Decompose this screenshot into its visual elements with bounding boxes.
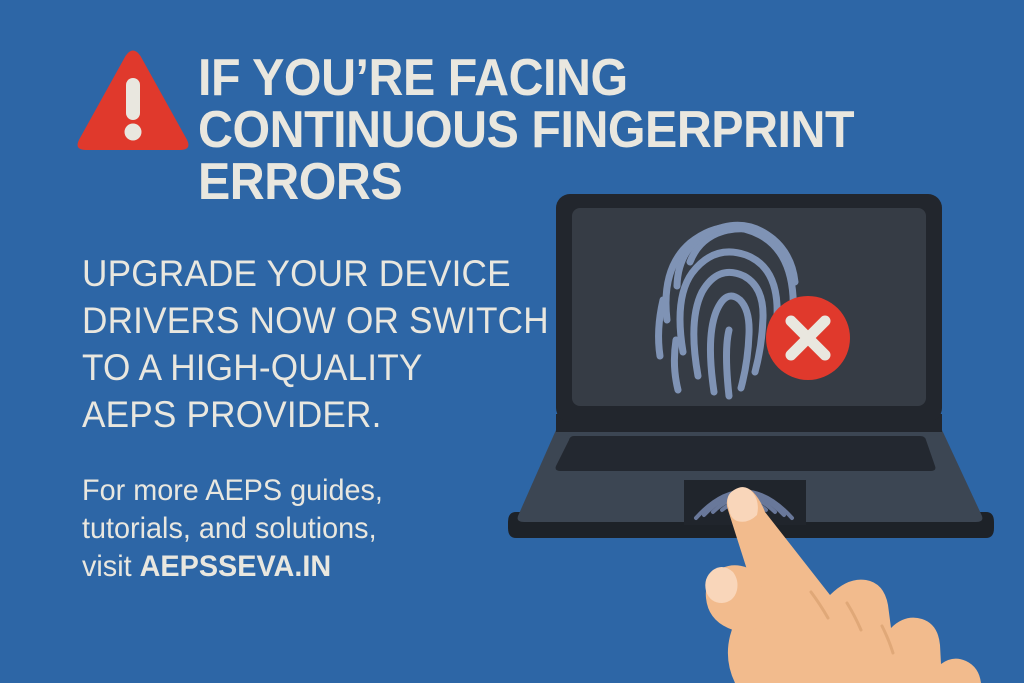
laptop-base-shadow (508, 512, 994, 538)
laptop-hinge (556, 414, 942, 432)
poster-canvas: IF YOU’RE FACING CONTINUOUS FINGERPRINT … (0, 0, 1024, 683)
pointing-hand (705, 487, 981, 683)
subhead-line-1: UPGRADE YOUR DEVICE (82, 250, 529, 297)
headline-line-3: ERRORS (198, 156, 505, 208)
fingerprint-sensor-pad (684, 480, 806, 525)
laptop-screen (572, 208, 926, 406)
warning-triangle-icon (74, 46, 192, 158)
subhead-line-2: DRIVERS NOW OR SWITCH (82, 297, 529, 344)
page-title: IF YOU’RE FACING CONTINUOUS FINGERPRINT … (198, 52, 505, 208)
fingerprint-icon (659, 225, 795, 396)
error-cross-icon (766, 296, 850, 380)
laptop-keyboard (556, 436, 936, 471)
footnote-visit-line: visit AEPSSEVA.IN (82, 548, 485, 586)
headline-line-2: CONTINUOUS FINGERPRINT (198, 104, 505, 156)
laptop-base (518, 430, 983, 522)
subhead-line-3: TO A HIGH-QUALITY (82, 344, 529, 391)
headline-line-1: IF YOU’RE FACING (198, 52, 505, 104)
subhead-line-4: AEPS PROVIDER. (82, 391, 529, 438)
footnote-line-2: tutorials, and solutions, (82, 510, 485, 548)
text-column: IF YOU’RE FACING CONTINUOUS FINGERPRINT … (0, 0, 540, 683)
subheading: UPGRADE YOUR DEVICE DRIVERS NOW OR SWITC… (82, 250, 529, 438)
footnote-line-1: For more AEPS guides, (82, 472, 485, 510)
footnote: For more AEPS guides, tutorials, and sol… (82, 472, 485, 586)
laptop-lid (556, 194, 942, 422)
footnote-visit-prefix: visit (82, 550, 140, 583)
fingerprint-sensor-icon (696, 492, 792, 519)
website-link[interactable]: AEPSSEVA.IN (140, 550, 332, 583)
